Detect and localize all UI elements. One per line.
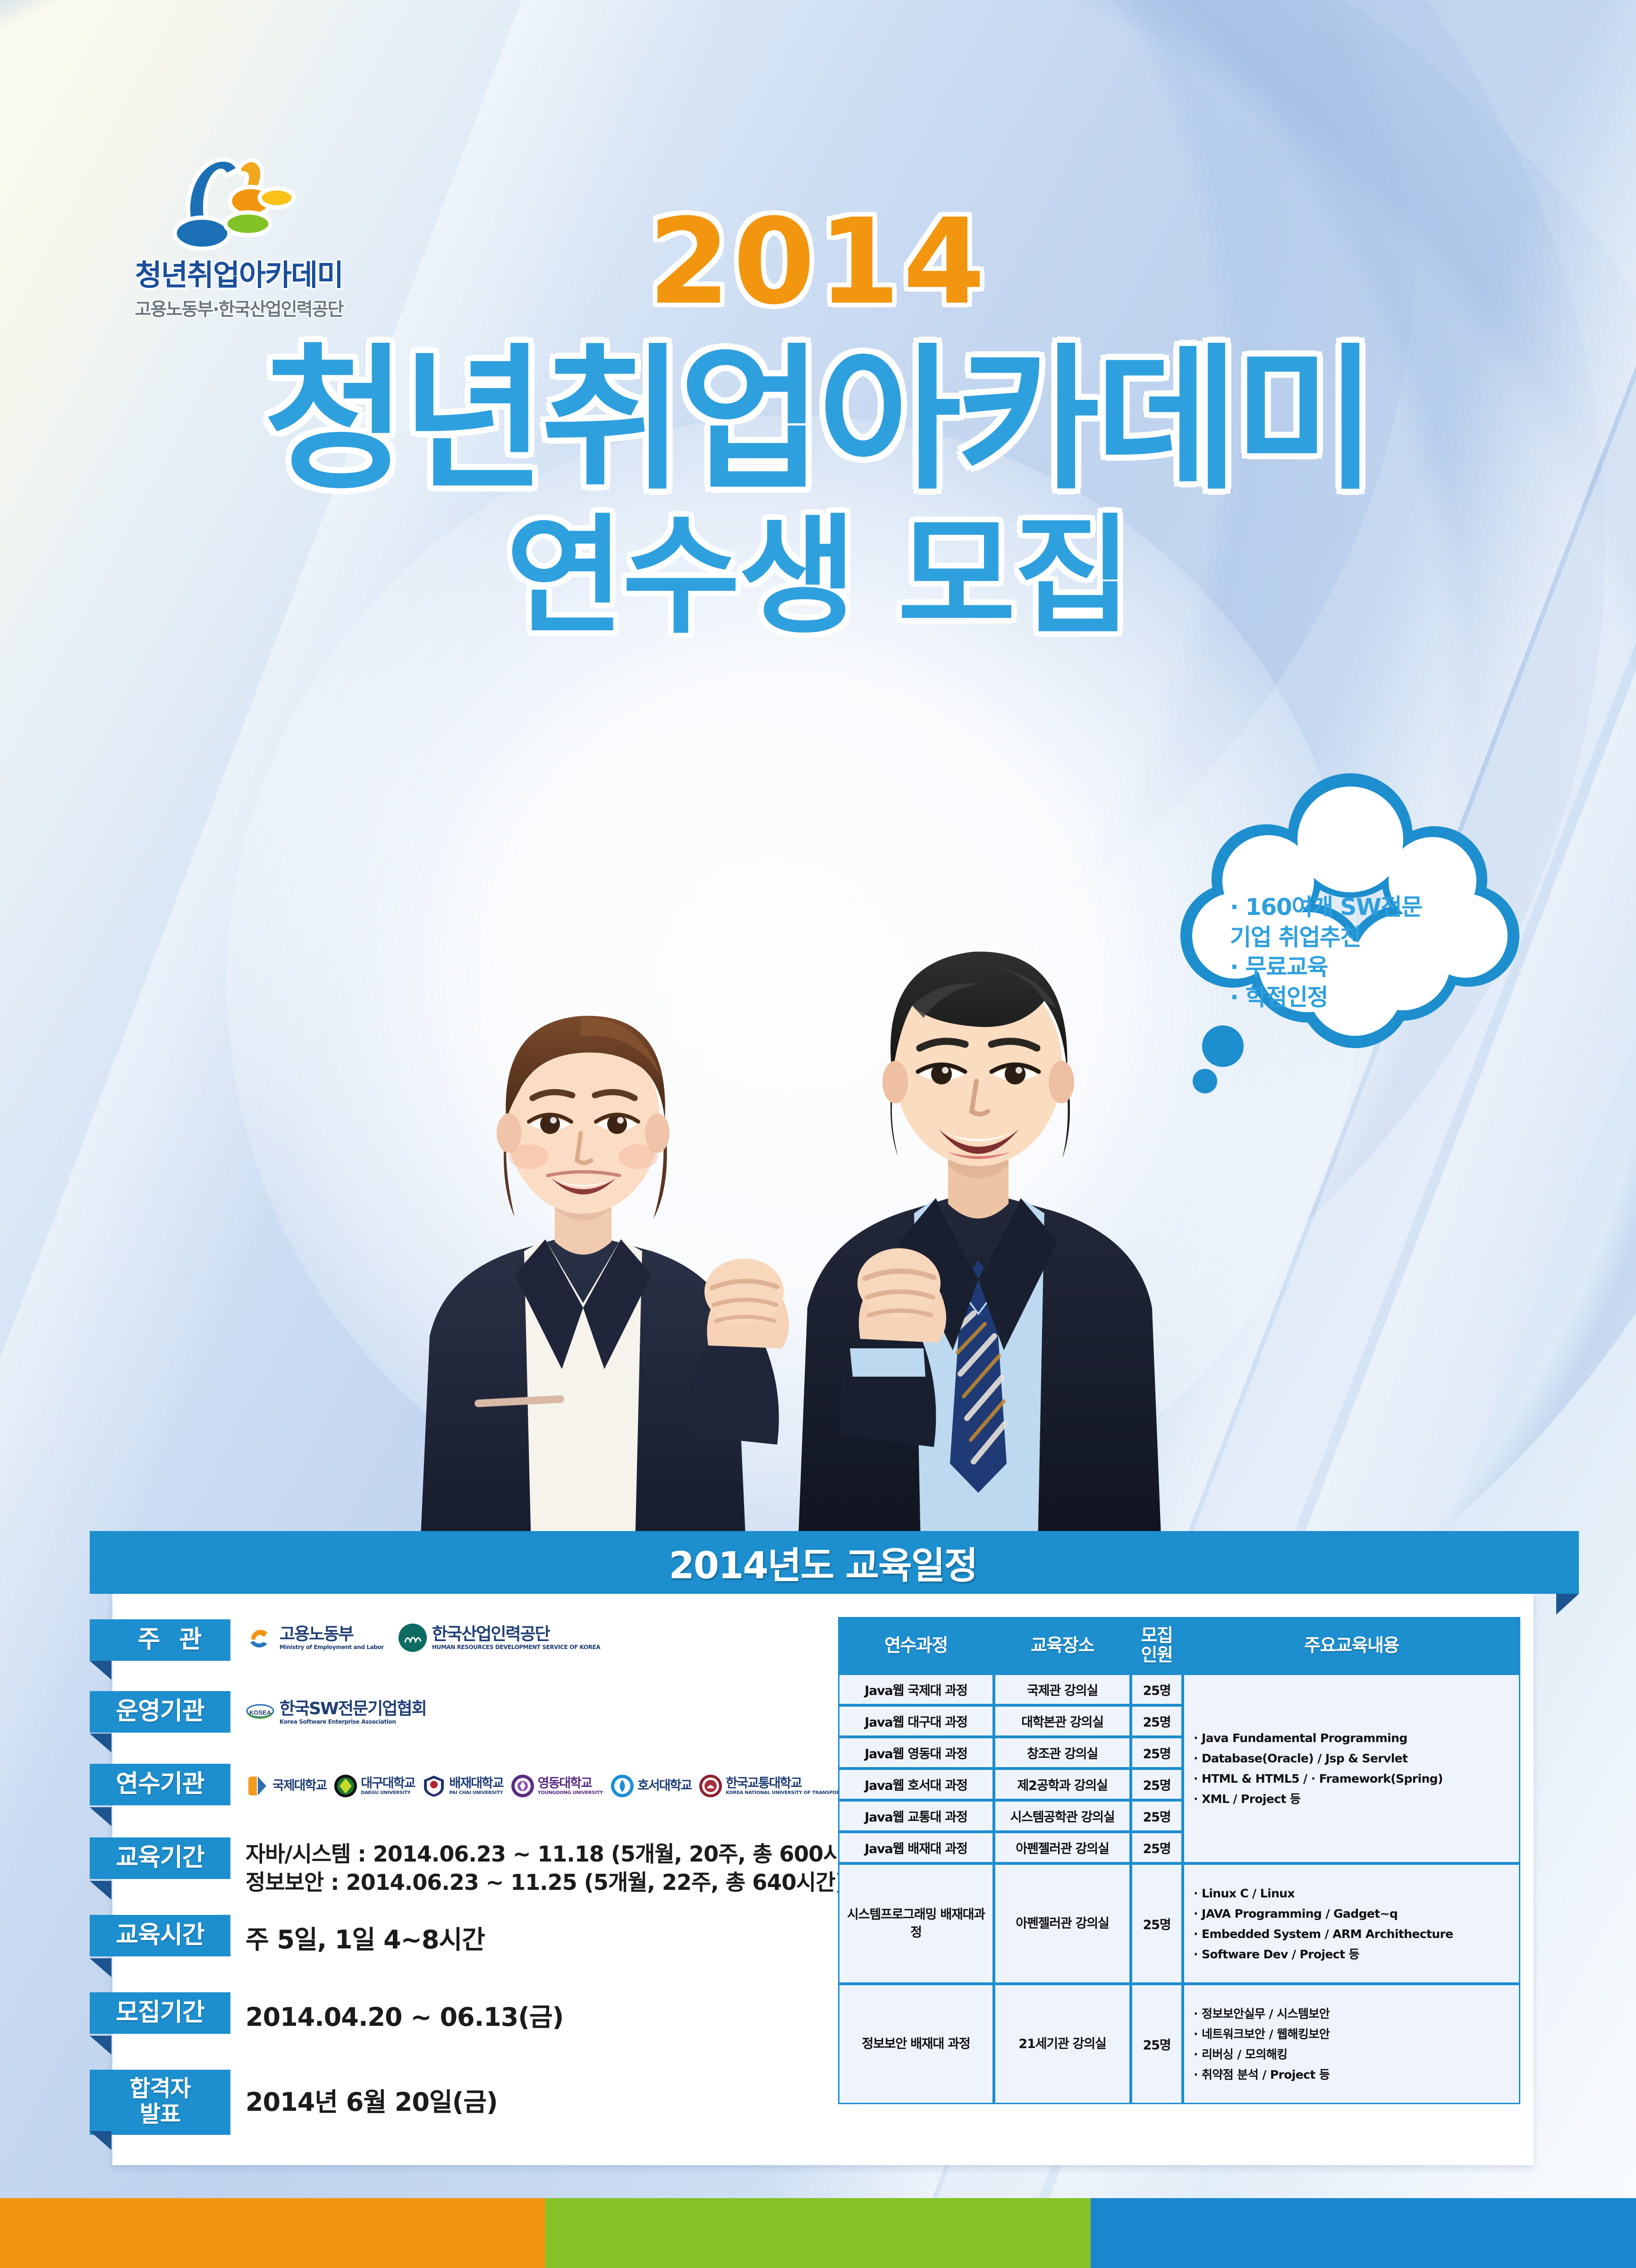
table-row: Java웹 국제대 과정 국제관 강의실 25명 · Java Fundamen… (838, 1674, 1520, 1705)
university-name-ko: 국제대학교 (272, 1779, 326, 1792)
university-name-ko: 배재대학교 (449, 1777, 503, 1790)
cell-course: Java웹 대구대 과정 (838, 1705, 994, 1737)
university-name-en: DAEGU UNIVERSITY (361, 1791, 415, 1795)
cell-place: 대학본관 강의실 (994, 1705, 1131, 1737)
cell-capacity: 25명 (1131, 1737, 1183, 1769)
content-line: · 정보보안실무 / 시스템보안 (1194, 2004, 1513, 2024)
cell-capacity: 25명 (1131, 1800, 1183, 1832)
female-student (420, 1016, 789, 1549)
course-schedule-table: 연수과정 교육장소 모집 인원 주요교육내용 Java웹 국제대 과정 국제관 … (838, 1617, 1520, 2104)
content-line: · HTML & HTML5 / · Framework(Spring) (1194, 1769, 1513, 1789)
table-row: 시스템프로그래밍 배재대과정 아펜젤러관 강의실 25명 · Linux C /… (838, 1863, 1520, 1984)
cell-capacity: 25명 (1131, 1863, 1183, 1984)
info-value-results-announcement: 2014년 6월 20일(금) (246, 2086, 826, 2119)
male-student (798, 952, 1161, 1549)
university-logo-kookje: 국제대학교 (246, 1774, 326, 1798)
info-label-results-announcement: 합격자 발표 (90, 2070, 230, 2135)
info-fold-application (90, 2036, 111, 2055)
university-name-en: PAI CHAI UNIVERSITY (449, 1791, 503, 1795)
info-row-application-period: 모집기간 2014.04.20 ~ 06.13(금) (90, 1992, 826, 2068)
cell-place: 21세기관 강의실 (994, 1984, 1131, 2104)
cell-course: 정보보안 배재대 과정 (838, 1984, 994, 2104)
schedule-banner-title: 2014년도 교육일정 (90, 1531, 1556, 1594)
org-logo-kosea: KOSEA 한국SW전문기업협회 Korea Software Enterpri… (246, 1698, 426, 1727)
info-value-hours: 주 5일, 1일 4~8시간 (246, 1923, 826, 1956)
cell-capacity: 25명 (1131, 1674, 1183, 1705)
university-logo-hoseo: 호서대학교 (610, 1774, 691, 1798)
cell-content-java: · Java Fundamental Programming · Databas… (1183, 1674, 1520, 1863)
content-line: · 취약점 분석 / Project 등 (1194, 2065, 1513, 2085)
cell-place: 아펜젤러관 강의실 (994, 1863, 1131, 1984)
cell-content-system: · Linux C / Linux · JAVA Programming / G… (1183, 1863, 1520, 1984)
poster-canvas: 청년취업아카데미 고용노동부·한국산업인력공단 2014 청년취업아카데미 연수… (0, 0, 1636, 2268)
content-line: · Database(Oracle) / Jsp & Servlet (1194, 1748, 1513, 1769)
info-row-hours: 교육시간 주 5일, 1일 4~8시간 (90, 1915, 826, 1990)
bottom-bar-orange (0, 2198, 545, 2268)
svg-text:KOSEA: KOSEA (249, 1709, 271, 1716)
cell-capacity: 25명 (1131, 1769, 1183, 1800)
org-name-ko: 한국SW전문기업협회 (280, 1701, 426, 1718)
paichai-crest-icon (422, 1774, 446, 1798)
cloud-line-4: · 학점인정 (1230, 982, 1504, 1013)
bottom-bar-blue (1091, 2198, 1636, 2268)
content-line: · XML / Project 등 (1194, 1789, 1513, 1809)
info-label-training-institutions: 연수기관 (90, 1764, 230, 1805)
cell-course: Java웹 영동대 과정 (838, 1737, 994, 1769)
schedule-banner: 2014년도 교육일정 (90, 1531, 1556, 1594)
hoseo-crest-icon (610, 1774, 634, 1798)
info-label-period: 교육기간 (90, 1837, 230, 1879)
youngdong-crest-icon (511, 1774, 534, 1798)
headline-main: 청년취업아카데미 (0, 338, 1636, 503)
cell-course: Java웹 배재대 과정 (838, 1832, 994, 1863)
org-logo-molab: 고용노동부 Ministry of Employment and Labor (246, 1623, 384, 1652)
content-line: · JAVA Programming / Gadget~q (1194, 1904, 1513, 1924)
cell-place: 시스템공학관 강의실 (994, 1800, 1131, 1832)
two-students-illustration (359, 718, 1237, 1549)
university-logo-paichai: 배재대학교 PAI CHAI UNIVERSITY (422, 1774, 503, 1798)
operator-logos: KOSEA 한국SW전문기업협회 Korea Software Enterpri… (246, 1698, 426, 1727)
content-line: · Java Fundamental Programming (1194, 1728, 1513, 1748)
info-fold-hours (90, 1958, 111, 1977)
column-header-content: 주요교육내용 (1183, 1617, 1520, 1674)
cell-course: Java웹 호서대 과정 (838, 1769, 994, 1800)
university-name-en: YOUNGDONG UNIVERSITY (538, 1791, 603, 1795)
info-label-application-period: 모집기간 (90, 1992, 230, 2034)
info-row-operator: 운영기관 KOSEA 한국SW전문기업협회 Korea Software Ent… (90, 1691, 826, 1762)
headline-block: 2014 청년취업아카데미 연수생 모집 (0, 203, 1636, 644)
cloud-benefits-text: · 160여개 SW전문 기업 취업추천 · 무료교육 · 학점인정 (1230, 892, 1504, 1013)
cell-content-security: · 정보보안실무 / 시스템보안 · 네트워크보안 / 웹해킹보안 · 리버싱 … (1183, 1984, 1520, 2104)
org-name-en: Ministry of Employment and Labor (280, 1644, 384, 1650)
headline-year: 2014 (0, 203, 1636, 321)
cell-course: Java웹 국제대 과정 (838, 1674, 994, 1705)
info-row-period: 교육기간 자바/시스템 : 2014.06.23 ~ 11.18 (5개월, 2… (90, 1837, 826, 1913)
university-logo-daegu: 대구대학교 DAEGU UNIVERSITY (334, 1774, 415, 1798)
info-fold-supervisor (90, 1661, 111, 1680)
banner-fold-extension (1556, 1531, 1579, 1594)
info-label-hours: 교육시간 (90, 1915, 230, 1956)
content-line: · 리버싱 / 모의해킹 (1194, 2044, 1513, 2065)
university-logos: 국제대학교 대구대학교 DAEGU UNIVERSITY (246, 1774, 858, 1798)
bottom-bar-green (545, 2198, 1091, 2268)
info-fold-training (90, 1807, 111, 1826)
org-logo-hrdkorea: 한국산업인력공단 HUMAN RESOURCES DEVELOPMENT SER… (398, 1623, 600, 1652)
molab-emblem-icon (246, 1623, 275, 1652)
cloud-line-3: · 무료교육 (1230, 952, 1504, 982)
info-rows: 주관 고용노동부 Ministry of Employment and Labo… (90, 1619, 826, 2152)
info-value-period: 자바/시스템 : 2014.06.23 ~ 11.18 (5개월, 20주, 총… (246, 1840, 826, 1897)
org-name-ko: 한국산업인력공단 (432, 1626, 600, 1643)
table-header-row: 연수과정 교육장소 모집 인원 주요교육내용 (838, 1617, 1520, 1674)
info-fold-period (90, 1881, 111, 1900)
cell-capacity: 25명 (1131, 1832, 1183, 1863)
university-name-ko: 영동대학교 (538, 1777, 603, 1790)
cell-course: 시스템프로그래밍 배재대과정 (838, 1863, 994, 1984)
cell-place: 국제관 강의실 (994, 1674, 1131, 1705)
kookje-crest-icon (246, 1774, 269, 1798)
info-row-results-announcement: 합격자 발표 2014년 6월 20일(금) (90, 2070, 826, 2150)
content-line: · Linux C / Linux (1194, 1883, 1513, 1904)
info-value-application-period: 2014.04.20 ~ 06.13(금) (246, 2001, 826, 2034)
column-header-place: 교육장소 (994, 1617, 1131, 1674)
hrdkorea-emblem-icon (398, 1623, 427, 1652)
org-name-en: HUMAN RESOURCES DEVELOPMENT SERVICE OF K… (432, 1644, 600, 1650)
university-name-ko: 대구대학교 (361, 1777, 415, 1790)
info-fold-operator (90, 1734, 111, 1752)
cell-course: Java웹 교통대 과정 (838, 1800, 994, 1832)
knut-crest-icon (699, 1774, 722, 1798)
table-row: 정보보안 배재대 과정 21세기관 강의실 25명 · 정보보안실무 / 시스템… (838, 1984, 1520, 2104)
university-logo-knut: 한국교통대학교 KOREA NATIONAL UNIVERSITY OF TRA… (699, 1774, 858, 1798)
period-line-2: 정보보안 : 2014.06.23 ~ 11.25 (5개월, 22주, 총 6… (246, 1869, 826, 1897)
info-label-supervisor: 주관 (90, 1619, 230, 1661)
students-photo (359, 718, 1237, 1549)
content-line: · 네트워크보안 / 웹해킹보안 (1194, 2024, 1513, 2044)
benefits-thought-bubble: · 160여개 SW전문 기업 취업추천 · 무료교육 · 학점인정 (1166, 755, 1534, 1105)
cell-place: 창조관 강의실 (994, 1737, 1131, 1769)
supervisor-logos: 고용노동부 Ministry of Employment and Labor 한… (246, 1623, 600, 1652)
cell-capacity: 25명 (1131, 1984, 1183, 2104)
info-row-training-institutions: 연수기관 국제대학교 (90, 1764, 826, 1836)
cell-place: 제2공학과 강의실 (994, 1769, 1131, 1800)
period-line-1: 자바/시스템 : 2014.06.23 ~ 11.18 (5개월, 20주, 총… (246, 1840, 826, 1869)
column-header-capacity: 모집 인원 (1131, 1617, 1183, 1674)
cell-place: 아펜젤러관 강의실 (994, 1832, 1131, 1863)
cloud-line-1: · 160여개 SW전문 (1230, 892, 1504, 922)
cloud-line-2: 기업 취업추천 (1230, 922, 1504, 953)
daegu-crest-icon (334, 1774, 357, 1798)
info-label-operator: 운영기관 (90, 1691, 230, 1733)
university-name-ko: 호서대학교 (637, 1779, 691, 1792)
org-name-ko: 고용노동부 (280, 1626, 384, 1643)
bottom-color-bar (0, 2198, 1636, 2268)
content-line: · Embedded System / ARM Archithecture (1194, 1924, 1513, 1944)
cell-capacity: 25명 (1131, 1705, 1183, 1737)
org-name-en: Korea Software Enterprise Association (280, 1719, 426, 1725)
kosea-emblem-icon: KOSEA (246, 1698, 275, 1727)
column-header-course: 연수과정 (838, 1617, 994, 1674)
info-row-supervisor: 주관 고용노동부 Ministry of Employment and Labo… (90, 1619, 826, 1689)
university-logo-youngdong: 영동대학교 YOUNGDONG UNIVERSITY (511, 1774, 603, 1798)
content-line: · Software Dev / Project 등 (1194, 1944, 1513, 1964)
headline-subtitle: 연수생 모집 (0, 510, 1636, 645)
